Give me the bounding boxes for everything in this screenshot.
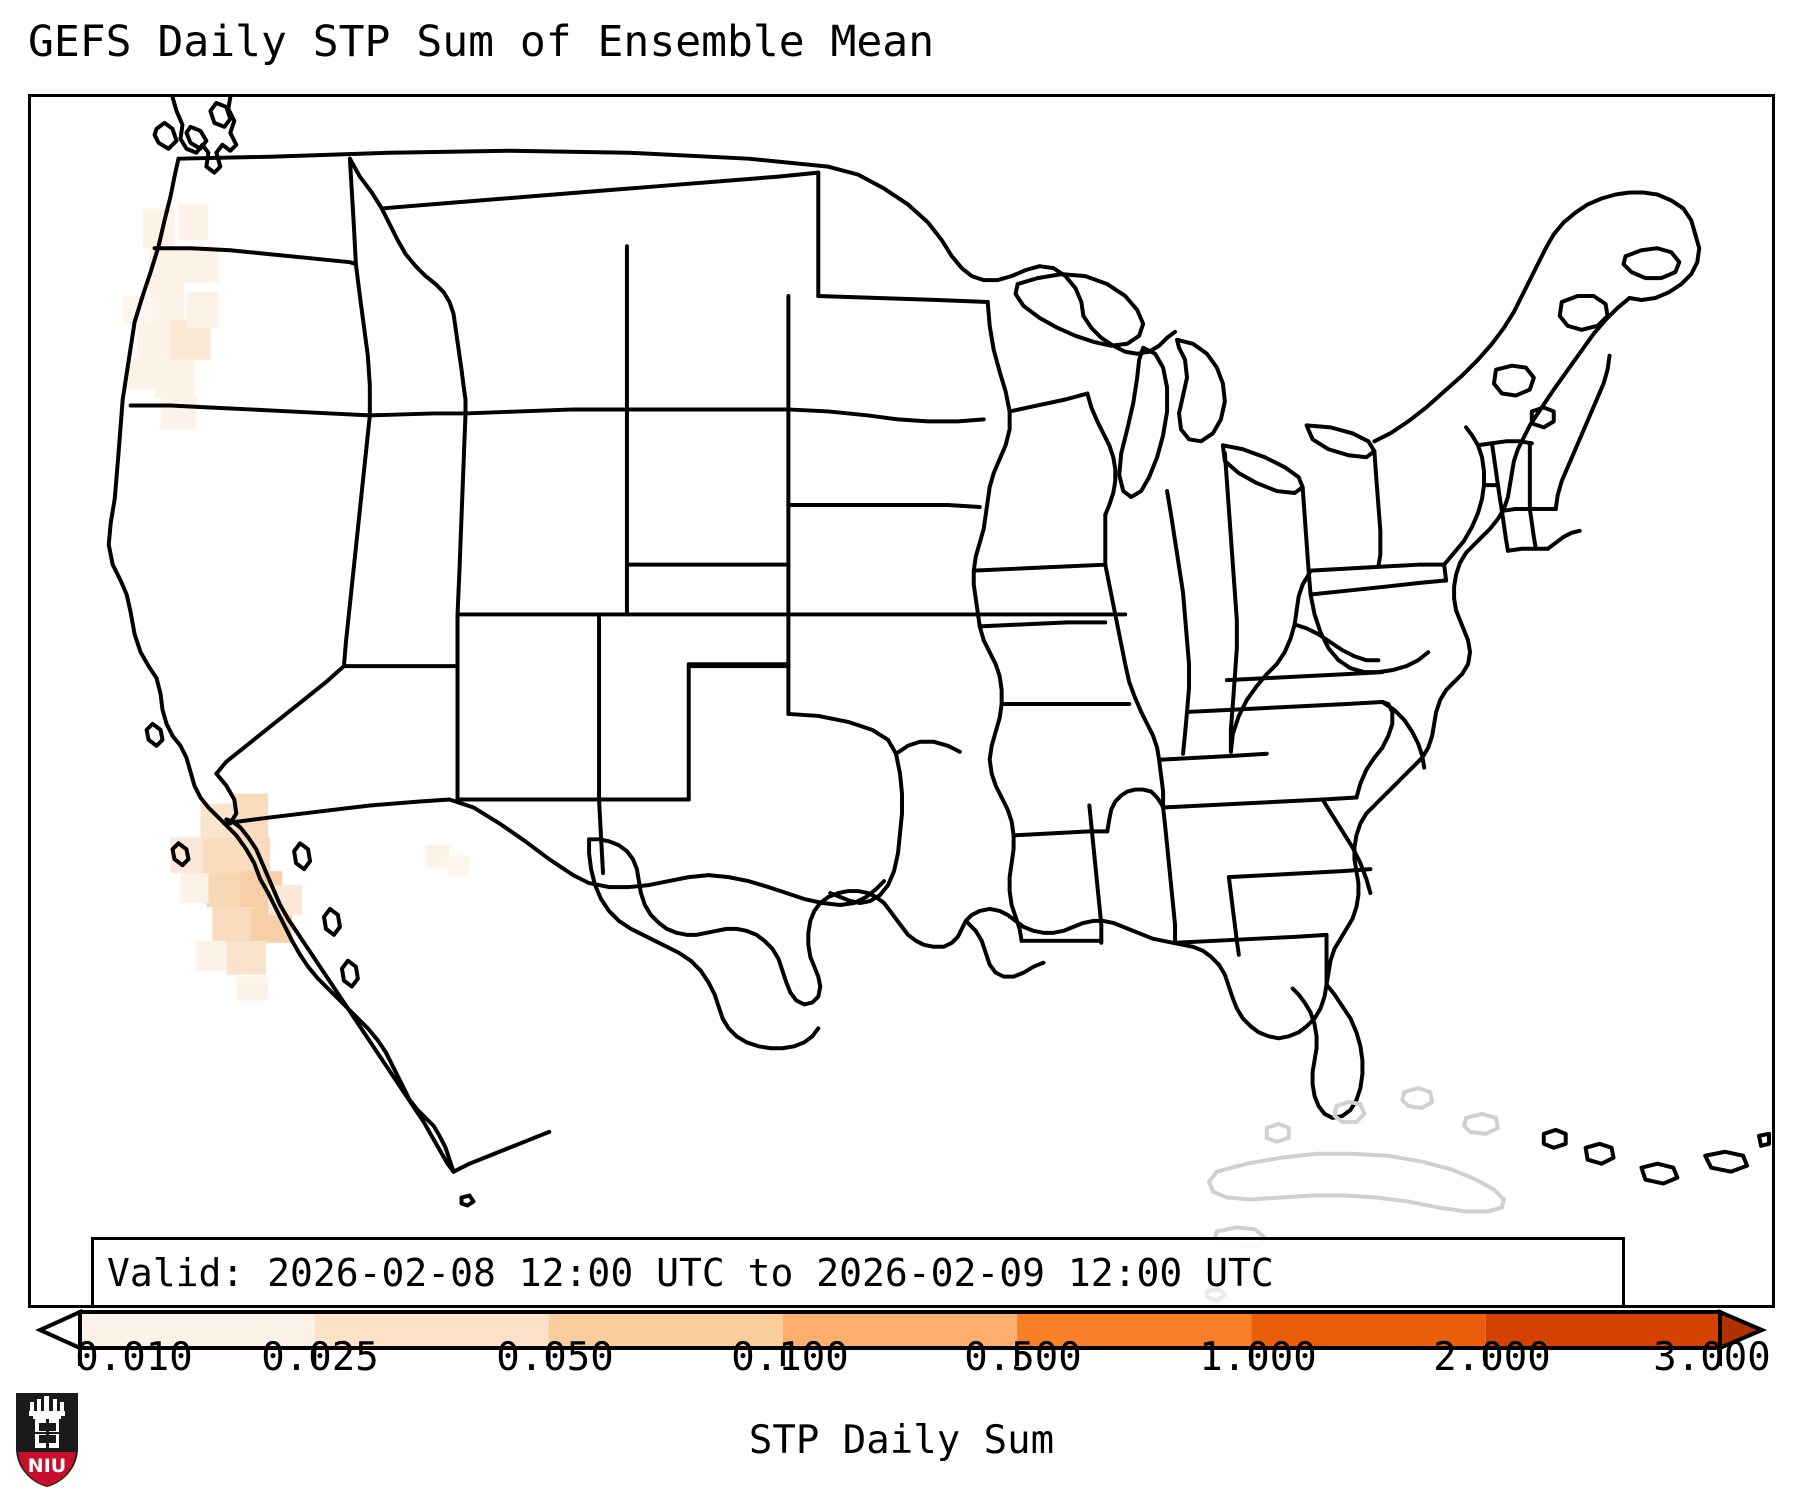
- colorbar-tick-label: 0.050: [496, 1336, 613, 1380]
- colorbar-tick-label: 3.000: [1653, 1336, 1770, 1380]
- colorbar-tick-label: 0.010: [75, 1336, 192, 1380]
- colorbar-tick-label: 1.000: [1199, 1336, 1316, 1380]
- colorbar-tick-labels: 0.010 0.025 0.050 0.100 0.500 1.000 2.00…: [0, 1336, 1803, 1386]
- forecast-info-box: Valid: 2026-02-08 12:00 UTC to 2026-02-0…: [91, 1237, 1625, 1308]
- map-frame: Valid: 2026-02-08 12:00 UTC to 2026-02-0…: [28, 94, 1775, 1308]
- stp-shaded-field: [123, 204, 470, 1000]
- niu-logo-svg: NIU: [14, 1392, 80, 1488]
- niu-logo: NIU: [14, 1392, 80, 1488]
- colorbar-tick-label: 0.500: [964, 1336, 1081, 1380]
- colorbar-axis-label: STP Daily Sum: [0, 1418, 1803, 1464]
- valid-time-line: Valid: 2026-02-08 12:00 UTC to 2026-02-0…: [107, 1249, 1622, 1297]
- niu-logo-text: NIU: [28, 1455, 66, 1477]
- map-geography: [109, 97, 1769, 1301]
- colorbar-tick-label: 0.100: [731, 1336, 848, 1380]
- map-canvas: [31, 97, 1772, 1305]
- page-title: GEFS Daily STP Sum of Ensemble Mean: [28, 16, 934, 68]
- colorbar-tick-label: 0.025: [261, 1336, 378, 1380]
- colorbar-tick-label: 2.000: [1433, 1336, 1550, 1380]
- run-time-line: Run: 2026-02-05 00:00 UTC: [107, 1297, 1622, 1308]
- colorbar: 0.010 0.025 0.050 0.100 0.500 1.000 2.00…: [0, 1308, 1803, 1368]
